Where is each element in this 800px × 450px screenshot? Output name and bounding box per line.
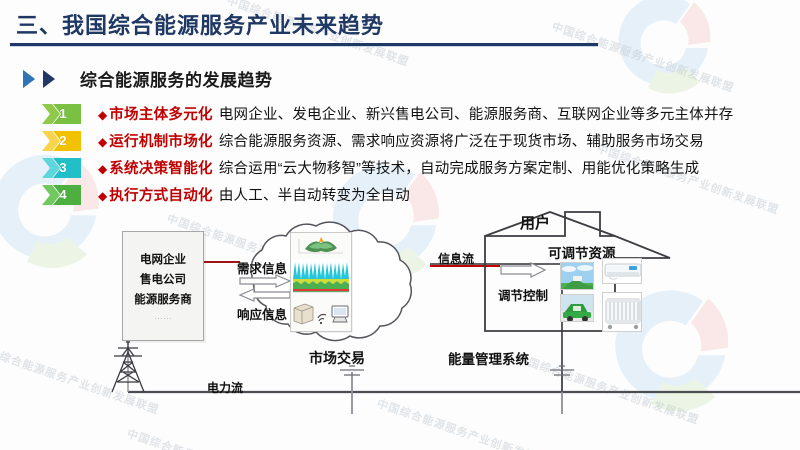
load-profile-chart <box>292 259 350 293</box>
title-divider <box>10 43 598 46</box>
appliance-tile-ev-charging <box>560 262 594 290</box>
list-item-desc: 综合能源服务资源、需求响应资源将广泛在于现货市场、辅助服务市场交易 <box>219 130 704 151</box>
response-info-label: 响应信息 <box>237 304 287 323</box>
server-box-icon <box>294 304 313 324</box>
page-title-text: 三、我国综合能源服务产业未来趋势 <box>16 8 384 40</box>
appliance-tile-green-vehicle <box>560 294 594 322</box>
list-item-title: 系统决策智能化 <box>109 157 213 178</box>
trend-list: 1 ◆ 市场主体多元化 电网企业、发电企业、新兴售电公司、能源服务商、互联网企业… <box>40 100 792 208</box>
list-item-desc: 电网企业、发电企业、新兴售电公司、能源服务商、互联网企业等多元主体并存 <box>219 103 734 124</box>
page-title: 三、我国综合能源服务产业未来趋势 <box>16 8 384 40</box>
badge-number: 1 <box>55 104 71 124</box>
diamond-icon: ◆ <box>98 108 107 122</box>
badge-number: 2 <box>55 131 71 151</box>
utility-line-4: …… <box>154 311 172 321</box>
diamond-icon: ◆ <box>98 135 107 149</box>
appliance-tile-radiator <box>602 292 642 332</box>
badge-number: 3 <box>55 158 71 178</box>
arrow-left-icon <box>238 288 292 302</box>
list-item: 2 ◆ 运行机制市场化 综合能源服务资源、需求响应资源将广泛在于现货市场、辅助服… <box>40 127 792 154</box>
arrow-right-icon <box>238 274 292 288</box>
utility-company-box: 电网企业 售电公司 能源服务商 …… <box>122 231 204 341</box>
watermark-text: 中国综合能源服务产业创新发展联盟 <box>550 18 737 96</box>
market-data-panel <box>290 232 352 332</box>
slide-root: 中国综合能源服务产业创新发展联盟 中国综合能源服务产业创新发展联盟 中国综合能源… <box>0 0 800 450</box>
section-subtitle: 综合能源服务的发展趋势 <box>22 66 273 91</box>
utility-line-1: 电网企业 <box>140 251 186 267</box>
monitor-icon <box>332 306 348 322</box>
chevron-right-icon-dark <box>42 69 68 89</box>
ribbon-badge-2: 2 <box>40 129 84 153</box>
surface-plot-thumb <box>291 235 351 257</box>
list-item: 3 ◆ 系统决策智能化 综合运用“云大物移智”等技术，自动完成服务方案定制、用能… <box>40 154 792 181</box>
control-adjust-label: 调节控制 <box>498 285 548 304</box>
ribbon-badge-3: 3 <box>40 156 84 180</box>
user-label: 用户 <box>520 212 550 233</box>
ribbon-badge-1: 1 <box>40 102 84 126</box>
diamond-icon: ◆ <box>98 162 107 176</box>
utility-line-3: 能源服务商 <box>134 291 192 307</box>
wifi-icon <box>318 314 326 324</box>
device-icons <box>291 298 351 326</box>
utility-line-2: 售电公司 <box>140 271 186 287</box>
info-flow-label: 信息流 <box>438 250 474 267</box>
architecture-diagram: 电网企业 售电公司 能源服务商 …… 需求信息 响应信息 <box>0 200 800 450</box>
list-item-title: 运行机制市场化 <box>109 130 213 151</box>
list-item: 1 ◆ 市场主体多元化 电网企业、发电企业、新兴售电公司、能源服务商、互联网企业… <box>40 100 792 127</box>
section-subtitle-text: 综合能源服务的发展趋势 <box>80 66 273 91</box>
arrow-right-icon-control <box>499 262 547 278</box>
list-item-desc: 综合运用“云大物移智”等技术，自动完成服务方案定制、用能优化策略生成 <box>219 157 699 178</box>
power-flow-label: 电力流 <box>207 379 243 396</box>
appliance-tile-air-conditioner <box>602 258 642 284</box>
watermark-logo <box>590 0 720 112</box>
market-trading-label: 市场交易 <box>309 348 365 368</box>
list-item-title: 市场主体多元化 <box>109 103 213 124</box>
